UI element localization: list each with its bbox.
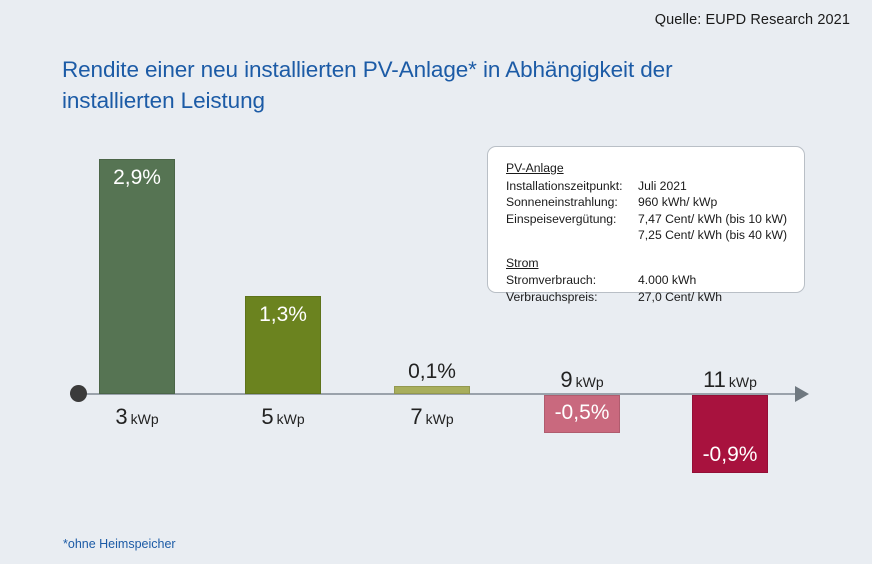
infobox-spacer — [506, 244, 788, 255]
infobox-section-pv-anlage: PV-Anlage — [506, 160, 788, 177]
category-number-7: 7 — [410, 404, 422, 429]
category-label-5-kwp: 5kWp — [245, 404, 321, 430]
category-number-5: 5 — [261, 404, 273, 429]
bar-value-11-kwp: -0,9% — [692, 443, 768, 467]
infobox-row-einspeiseverguetung: Einspeisevergütung: 7,47 Cent/ kWh (bis … — [506, 211, 788, 228]
infobox-value-einspeiseverguetung-10kw: 7,47 Cent/ kWh (bis 10 kW) — [638, 211, 788, 228]
bar-value-9-kwp: -0,5% — [544, 401, 620, 425]
infobox-value-verbrauchspreis: 27,0 Cent/ kWh — [638, 289, 788, 306]
category-number-11: 11 — [703, 367, 726, 392]
category-number-3: 3 — [115, 404, 127, 429]
category-unit-9: kWp — [576, 374, 604, 390]
bar-value-7-kwp: 0,1% — [394, 360, 470, 384]
category-label-7-kwp: 7kWp — [394, 404, 470, 430]
infobox-key-einspeiseverguetung: Einspeisevergütung: — [506, 211, 638, 228]
axis-origin-dot-icon — [70, 385, 87, 402]
infobox-row-stromverbrauch: Stromverbrauch: 4.000 kWh — [506, 272, 788, 289]
infobox-value-stromverbrauch: 4.000 kWh — [638, 272, 788, 289]
category-number-9: 9 — [560, 367, 572, 392]
infobox-key-installationszeitpunkt: Installationszeitpunkt: — [506, 178, 638, 195]
x-axis-arrow-icon — [795, 386, 809, 402]
bar-7-kwp[interactable] — [394, 386, 470, 394]
bar-value-3-kwp: 2,9% — [99, 166, 175, 190]
category-label-11-kwp: 11kWp — [692, 367, 768, 393]
infobox-value-sonneneinstrahlung: 960 kWh/ kWp — [638, 194, 788, 211]
assumptions-infobox: PV-Anlage Installationszeitpunkt: Juli 2… — [487, 146, 805, 293]
category-label-9-kwp: 9kWp — [544, 367, 620, 393]
infobox-key-verbrauchspreis: Verbrauchspreis: — [506, 289, 638, 306]
infobox-row-verbrauchspreis: Verbrauchspreis: 27,0 Cent/ kWh — [506, 289, 788, 306]
chart-page: Quelle: EUPD Research 2021 Rendite einer… — [0, 0, 872, 564]
infobox-key-stromverbrauch: Stromverbrauch: — [506, 272, 638, 289]
infobox-row-einspeiseverguetung-second: 7,25 Cent/ kWh (bis 40 kW) — [506, 227, 788, 244]
footnote-text: *ohne Heimspeicher — [63, 537, 176, 551]
infobox-value-einspeiseverguetung-40kw: 7,25 Cent/ kWh (bis 40 kW) — [638, 227, 788, 244]
infobox-row-sonneneinstrahlung: Sonneneinstrahlung: 960 kWh/ kWp — [506, 194, 788, 211]
category-unit-7: kWp — [426, 411, 454, 427]
category-unit-11: kWp — [729, 374, 757, 390]
infobox-section-strom: Strom — [506, 255, 788, 272]
category-unit-3: kWp — [131, 411, 159, 427]
infobox-value-installationszeitpunkt: Juli 2021 — [638, 178, 788, 195]
infobox-row-installationszeitpunkt: Installationszeitpunkt: Juli 2021 — [506, 178, 788, 195]
infobox-key-einspeiseverguetung-second — [506, 227, 638, 244]
bar-value-5-kwp: 1,3% — [245, 303, 321, 327]
bar-3-kwp[interactable] — [99, 159, 175, 394]
category-label-3-kwp: 3kWp — [99, 404, 175, 430]
category-unit-5: kWp — [277, 411, 305, 427]
infobox-key-sonneneinstrahlung: Sonneneinstrahlung: — [506, 194, 638, 211]
